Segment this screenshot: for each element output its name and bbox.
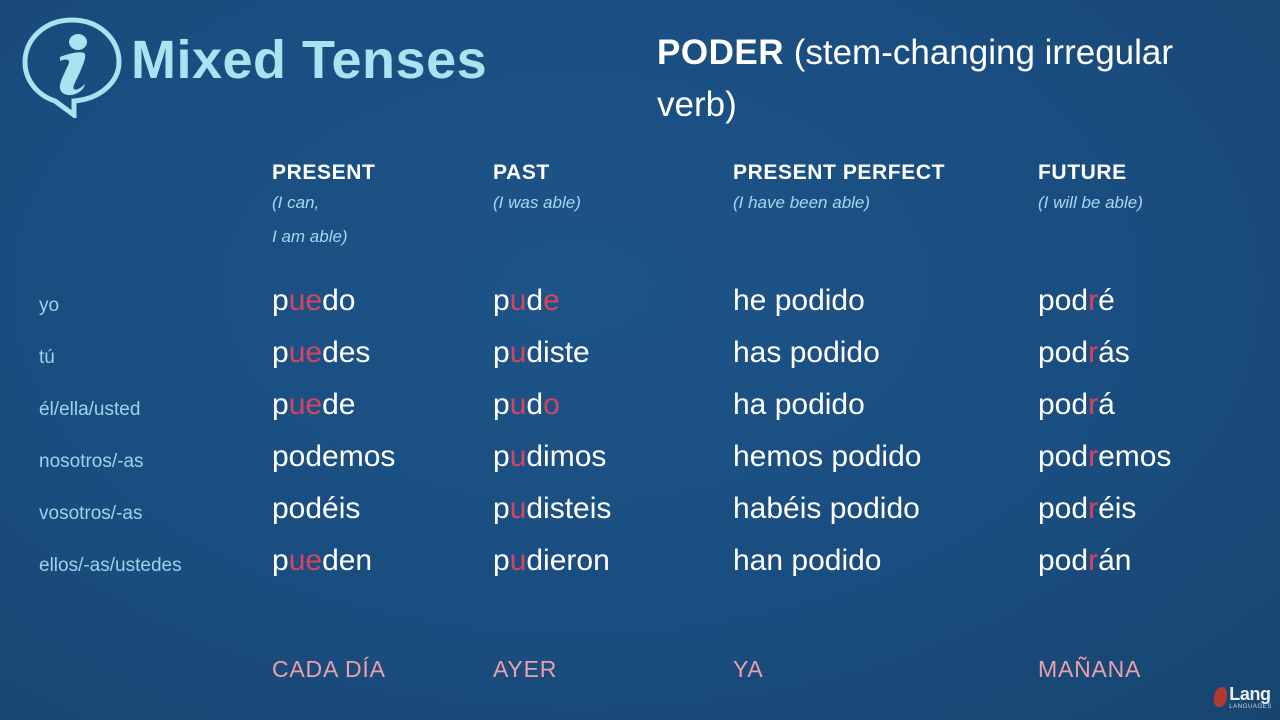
word-segment: pod bbox=[1038, 440, 1088, 473]
highlighted-stem: ue bbox=[289, 544, 322, 577]
word-segment: hemos podido bbox=[733, 440, 921, 473]
pronoun-label: tú bbox=[39, 346, 55, 370]
column-title: PAST bbox=[493, 160, 581, 186]
word-segment: ha podido bbox=[733, 388, 865, 421]
word-segment: pod bbox=[1038, 388, 1088, 421]
highlighted-stem: u bbox=[510, 284, 527, 317]
word-segment: des bbox=[322, 336, 370, 369]
highlighted-stem: r bbox=[1088, 440, 1098, 473]
highlighted-stem: r bbox=[1088, 388, 1098, 421]
word-segment: p bbox=[493, 544, 510, 577]
highlighted-stem: u bbox=[510, 492, 527, 525]
pronoun-label: nosotros/-as bbox=[39, 450, 144, 474]
word-segment: d bbox=[526, 388, 543, 421]
time-marker-past: AYER bbox=[493, 655, 557, 683]
watermark-name: Lang bbox=[1229, 685, 1272, 703]
column-subtitle-line: I am able) bbox=[272, 220, 375, 254]
highlighted-stem: r bbox=[1088, 284, 1098, 317]
highlighted-stem: r bbox=[1088, 492, 1098, 525]
conjugation-present-perfect: hemos podido bbox=[733, 439, 921, 475]
column-header-present: PRESENT(I can,I am able) bbox=[272, 160, 375, 254]
word-segment: podéis bbox=[272, 492, 360, 525]
word-segment: pod bbox=[1038, 544, 1088, 577]
column-header-past: PAST(I was able) bbox=[493, 160, 581, 220]
pronoun-label: ellos/-as/ustedes bbox=[39, 554, 182, 578]
conjugation-present: puedo bbox=[272, 283, 355, 319]
highlighted-stem: ue bbox=[289, 284, 322, 317]
column-header-future: FUTURE(I will be able) bbox=[1038, 160, 1143, 220]
word-segment: ás bbox=[1098, 336, 1130, 369]
column-subtitle-line: (I will be able) bbox=[1038, 186, 1143, 220]
word-segment: d bbox=[526, 284, 543, 317]
word-segment: han podido bbox=[733, 544, 881, 577]
conjugation-present: puede bbox=[272, 387, 355, 423]
conjugation-present-perfect: han podido bbox=[733, 543, 881, 579]
highlighted-stem: r bbox=[1088, 544, 1098, 577]
column-header-present-perfect: PRESENT PERFECT(I have been able) bbox=[733, 160, 945, 220]
conjugation-future: podrás bbox=[1038, 335, 1130, 371]
conjugation-past: pudimos bbox=[493, 439, 606, 475]
column-title: FUTURE bbox=[1038, 160, 1143, 186]
word-segment: á bbox=[1098, 388, 1115, 421]
pronoun-label: vosotros/-as bbox=[39, 502, 142, 526]
conjugation-present-perfect: he podido bbox=[733, 283, 865, 319]
highlighted-stem: u bbox=[510, 440, 527, 473]
conjugation-past: pude bbox=[493, 283, 560, 319]
conjugation-present-perfect: habéis podido bbox=[733, 491, 920, 527]
word-segment: podemos bbox=[272, 440, 395, 473]
watermark-mark-icon bbox=[1213, 687, 1228, 707]
time-marker-present-perfect: YA bbox=[733, 655, 764, 683]
word-segment: é bbox=[1098, 284, 1115, 317]
word-segment: emos bbox=[1098, 440, 1171, 473]
time-marker-present: CADA DÍA bbox=[272, 655, 386, 683]
conjugation-present-perfect: ha podido bbox=[733, 387, 865, 423]
column-title: PRESENT bbox=[272, 160, 375, 186]
word-segment: p bbox=[493, 388, 510, 421]
conjugation-future: podré bbox=[1038, 283, 1115, 319]
word-segment: dimos bbox=[526, 440, 606, 473]
highlighted-stem: e bbox=[543, 284, 560, 317]
slide-canvas: Mixed Tenses PODER (stem-changing irregu… bbox=[0, 0, 1280, 720]
highlighted-stem: r bbox=[1088, 336, 1098, 369]
word-segment: p bbox=[493, 492, 510, 525]
column-subtitle-line: (I can, bbox=[272, 186, 375, 220]
time-marker-future: MAÑANA bbox=[1038, 655, 1141, 683]
column-subtitle-line: (I have been able) bbox=[733, 186, 945, 220]
watermark-tagline: LANGUAGES bbox=[1229, 704, 1272, 710]
word-segment: p bbox=[272, 388, 289, 421]
conjugation-past: pudieron bbox=[493, 543, 610, 579]
word-segment: dieron bbox=[526, 544, 609, 577]
word-segment: diste bbox=[526, 336, 589, 369]
highlighted-stem: u bbox=[510, 544, 527, 577]
word-segment: den bbox=[322, 544, 372, 577]
column-subtitle-line: (I was able) bbox=[493, 186, 581, 220]
word-segment: do bbox=[322, 284, 355, 317]
pronoun-label: él/ella/usted bbox=[39, 398, 140, 422]
word-segment: éis bbox=[1098, 492, 1136, 525]
word-segment: p bbox=[493, 440, 510, 473]
highlighted-stem: u bbox=[510, 336, 527, 369]
word-segment: pod bbox=[1038, 336, 1088, 369]
pronoun-label: yo bbox=[39, 294, 59, 318]
word-segment: disteis bbox=[526, 492, 611, 525]
word-segment: án bbox=[1098, 544, 1131, 577]
word-segment: he podido bbox=[733, 284, 865, 317]
conjugation-past: pudo bbox=[493, 387, 560, 423]
highlighted-stem: u bbox=[510, 388, 527, 421]
highlighted-stem: ue bbox=[289, 388, 322, 421]
conjugation-past: pudiste bbox=[493, 335, 590, 371]
conjugation-future: podrán bbox=[1038, 543, 1131, 579]
column-title: PRESENT PERFECT bbox=[733, 160, 945, 186]
word-segment: p bbox=[493, 336, 510, 369]
word-segment: habéis podido bbox=[733, 492, 920, 525]
conjugation-present: pueden bbox=[272, 543, 372, 579]
word-segment: p bbox=[272, 336, 289, 369]
highlighted-stem: ue bbox=[289, 336, 322, 369]
word-segment: de bbox=[322, 388, 355, 421]
lang-watermark: Lang LANGUAGES bbox=[1214, 680, 1272, 714]
highlighted-stem: o bbox=[543, 388, 560, 421]
word-segment: p bbox=[493, 284, 510, 317]
word-segment: p bbox=[272, 284, 289, 317]
conjugation-past: pudisteis bbox=[493, 491, 611, 527]
conjugation-present-perfect: has podido bbox=[733, 335, 880, 371]
word-segment: has podido bbox=[733, 336, 880, 369]
word-segment: p bbox=[272, 544, 289, 577]
conjugation-future: podréis bbox=[1038, 491, 1136, 527]
conjugation-present: podemos bbox=[272, 439, 395, 475]
word-segment: pod bbox=[1038, 492, 1088, 525]
word-segment: pod bbox=[1038, 284, 1088, 317]
conjugation-future: podrá bbox=[1038, 387, 1115, 423]
conjugation-present: puedes bbox=[272, 335, 370, 371]
conjugation-table: PRESENT(I can,I am able)CADA DÍAPAST(I w… bbox=[0, 0, 1280, 720]
conjugation-present: podéis bbox=[272, 491, 360, 527]
conjugation-future: podremos bbox=[1038, 439, 1171, 475]
